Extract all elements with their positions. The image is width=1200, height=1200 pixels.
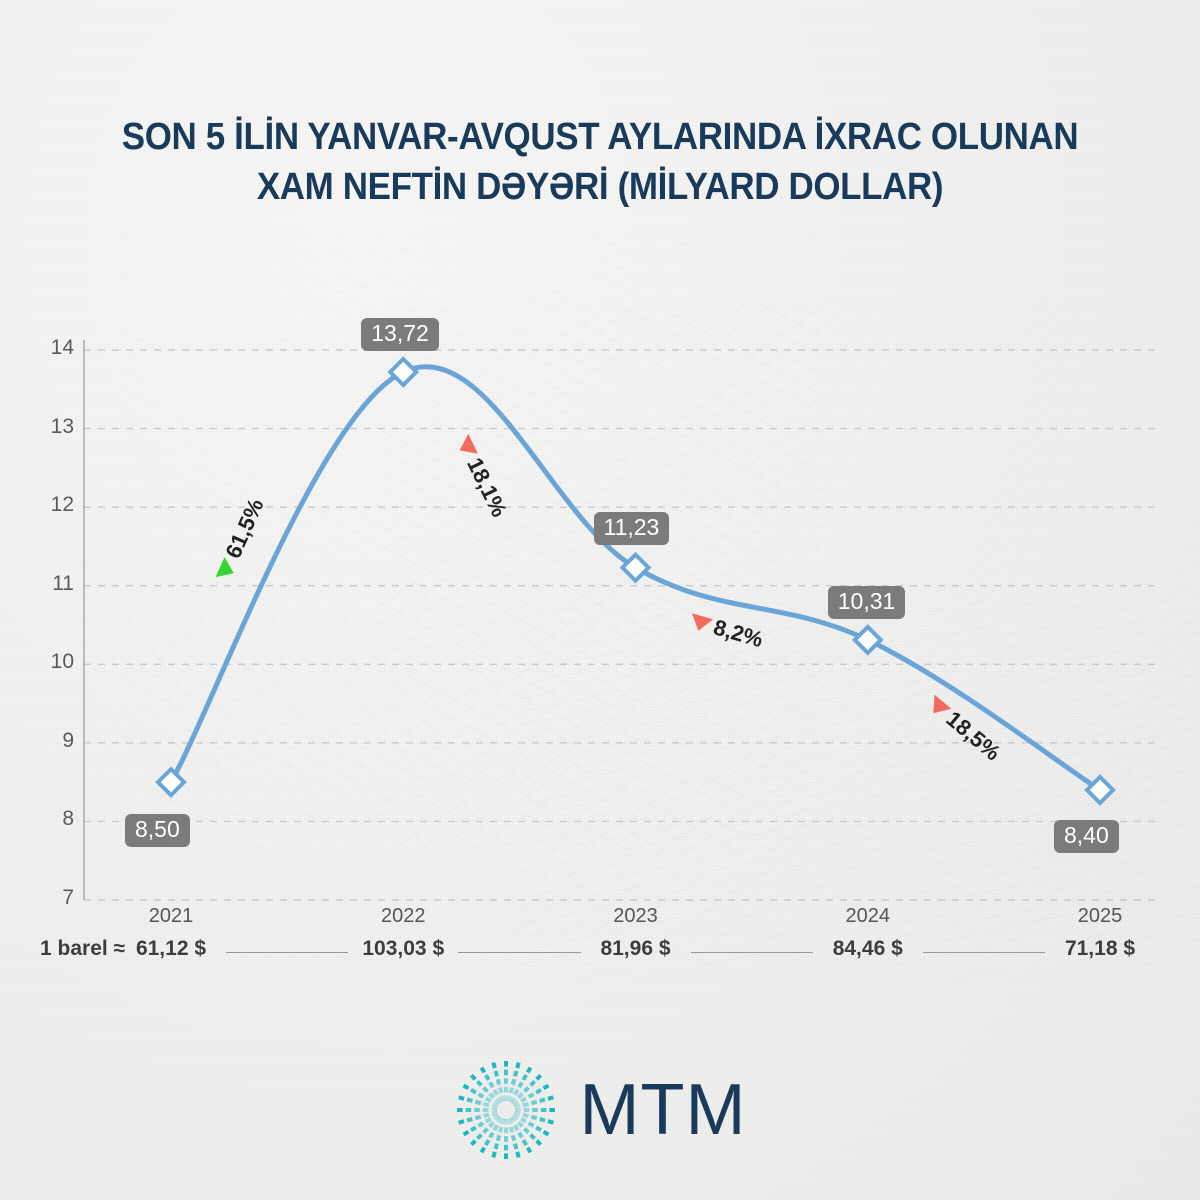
logo-ray — [467, 1119, 472, 1120]
data-value-badge: 13,72 — [361, 318, 439, 351]
logo-ray — [495, 1071, 496, 1076]
logo-ray — [494, 1090, 497, 1095]
barrel-price-connector — [691, 952, 813, 953]
x-axis-tick-label: 2023 — [556, 905, 716, 928]
mtm-burst-icon — [454, 1058, 558, 1162]
logo-ray — [518, 1122, 522, 1126]
logo-ray — [494, 1125, 497, 1130]
logo-ray — [458, 1097, 463, 1098]
logo-ray — [471, 1090, 476, 1093]
decrease-triangle-icon — [455, 434, 478, 460]
barrel-price-value: 84,46 $ — [788, 937, 948, 961]
logo-ray — [514, 1125, 517, 1130]
logo-ray — [485, 1075, 488, 1080]
logo-ray — [528, 1123, 533, 1126]
logo-ray — [497, 1079, 498, 1084]
barrel-price-value: 103,03 $ — [323, 937, 483, 961]
x-axis-tick-label: 2024 — [788, 905, 948, 928]
x-axis-tick-label: 2022 — [323, 905, 483, 928]
logo-ray — [521, 1119, 526, 1122]
logo-ray — [463, 1086, 468, 1089]
x-axis-tick-label: 2021 — [91, 905, 251, 928]
y-axis-tick-label: 11 — [30, 572, 74, 596]
logo-ray — [512, 1079, 513, 1084]
logo-ray — [536, 1075, 540, 1079]
y-axis-tick-label: 14 — [30, 336, 74, 360]
y-axis-tick-label: 8 — [30, 807, 74, 831]
logo-ray — [493, 1063, 494, 1068]
y-axis-tick-label: 13 — [30, 415, 74, 439]
logo-ray — [517, 1152, 518, 1157]
logo-ray — [523, 1115, 528, 1116]
decrease-triangle-icon — [688, 613, 713, 633]
logo-ray — [515, 1071, 516, 1076]
logo-ray — [547, 1121, 552, 1122]
logo-ray — [477, 1135, 481, 1139]
logo-ray — [518, 1094, 522, 1098]
logo-ray — [510, 1127, 511, 1132]
logo-ray — [508, 1119, 509, 1124]
logo-ray — [475, 1117, 480, 1118]
logo-ray — [527, 1148, 530, 1153]
logo-ray — [523, 1140, 526, 1145]
barrel-price-connector — [458, 952, 580, 953]
barrel-price-connector — [923, 952, 1045, 953]
logo-ray — [478, 1123, 483, 1126]
logo-ray — [523, 1075, 526, 1080]
logo-ray — [539, 1119, 544, 1120]
logo-ray — [514, 1090, 517, 1095]
logo-ray — [471, 1075, 475, 1079]
logo-ray — [475, 1102, 480, 1103]
logo-ray — [514, 1106, 519, 1107]
data-point-marker[interactable] — [855, 627, 881, 653]
logo-ray — [481, 1068, 484, 1073]
logo-ray — [483, 1129, 487, 1133]
logo-ray — [519, 1082, 522, 1087]
data-point-marker[interactable] — [623, 555, 649, 581]
logo-ray — [539, 1100, 544, 1101]
logo-ray — [530, 1135, 534, 1139]
line-chart: 7891011121314 20212022202320242025 8,501… — [0, 0, 1200, 1200]
logo-ray — [467, 1100, 472, 1101]
logo-ray — [477, 1081, 481, 1085]
logo-ray — [515, 1144, 516, 1149]
brand-logo: MTM — [0, 1058, 1200, 1162]
logo-ray — [543, 1132, 548, 1135]
logo-ray — [536, 1141, 540, 1145]
logo-ray — [489, 1122, 493, 1126]
logo-ray — [483, 1104, 488, 1105]
logo-ray — [524, 1129, 528, 1133]
logo-ray — [471, 1141, 475, 1145]
logo-ray — [521, 1098, 526, 1101]
logo-ray — [536, 1090, 541, 1093]
y-axis-tick-label: 12 — [30, 493, 74, 517]
logo-ray — [483, 1115, 488, 1116]
logo-ray — [543, 1086, 548, 1089]
logo-ray — [531, 1102, 536, 1103]
logo-ray — [485, 1140, 488, 1145]
data-value-badge: 8,40 — [1054, 820, 1119, 853]
logo-ray — [490, 1082, 493, 1087]
y-axis-tick-label: 10 — [30, 650, 74, 674]
logo-ray — [531, 1117, 536, 1118]
y-axis-tick-label: 7 — [30, 886, 74, 910]
logo-ray — [528, 1094, 533, 1097]
data-point-marker[interactable] — [390, 359, 416, 385]
logo-ray — [485, 1098, 490, 1101]
logo-ray — [458, 1121, 463, 1122]
data-value-badge: 10,31 — [828, 586, 906, 619]
logo-ray — [491, 1112, 496, 1113]
x-axis-tick-label: 2025 — [1020, 905, 1180, 928]
logo-ray — [471, 1127, 476, 1130]
logo-ray — [490, 1133, 493, 1138]
logo-ray — [497, 1135, 498, 1140]
logo-ray — [519, 1133, 522, 1138]
logo-ray — [493, 1152, 494, 1157]
brand-name: MTM — [580, 1074, 747, 1146]
chart-plot-area — [0, 0, 1200, 1200]
logo-ray — [502, 1096, 503, 1101]
logo-ray — [500, 1088, 501, 1093]
logo-ray — [512, 1135, 513, 1140]
logo-ray — [463, 1132, 468, 1135]
logo-ray — [547, 1097, 552, 1098]
logo-ray — [530, 1081, 534, 1085]
logo-ray — [481, 1148, 484, 1153]
barrel-price-value: 61,12 $ — [91, 937, 251, 961]
logo-ray — [483, 1088, 487, 1092]
logo-ray — [485, 1119, 490, 1122]
data-value-badge: 11,23 — [594, 512, 670, 545]
data-value-badge: 8,50 — [125, 814, 190, 847]
logo-ray — [478, 1094, 483, 1097]
logo-ray — [523, 1104, 528, 1105]
logo-ray — [495, 1144, 496, 1149]
data-point-marker[interactable] — [158, 769, 184, 795]
barrel-price-connector — [226, 952, 348, 953]
y-axis-tick-label: 9 — [30, 729, 74, 753]
logo-ray — [527, 1068, 530, 1073]
barrel-price-value: 71,18 $ — [1020, 937, 1180, 961]
logo-ray — [517, 1063, 518, 1068]
logo-ray — [510, 1088, 511, 1093]
logo-ray — [489, 1094, 493, 1098]
logo-ray — [500, 1127, 501, 1132]
barrel-price-value: 81,96 $ — [556, 937, 716, 961]
barrel-price-row: 1 barel ≈ 61,12 $103,03 $81,96 $84,46 $7… — [40, 935, 1160, 969]
logo-ray — [536, 1127, 541, 1130]
logo-ray — [524, 1088, 528, 1092]
